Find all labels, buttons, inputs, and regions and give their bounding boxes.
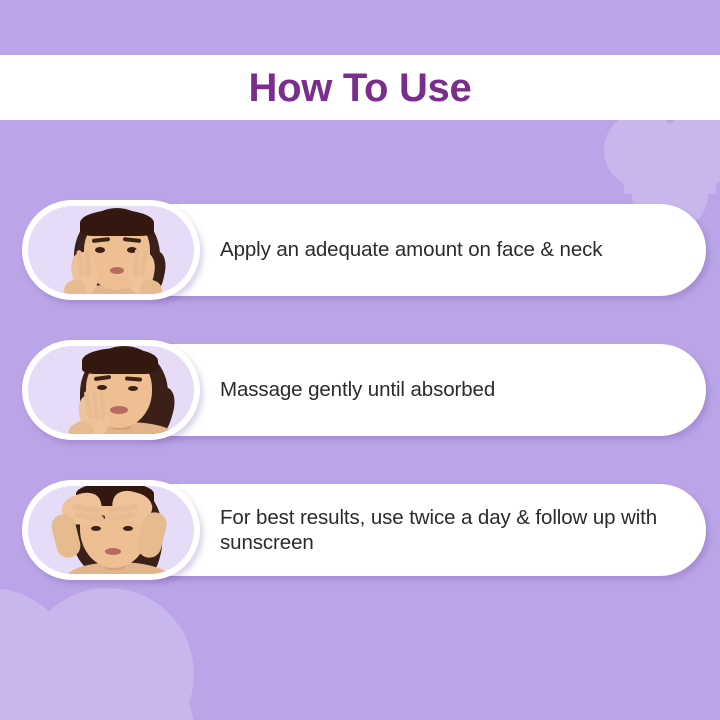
step-card: Apply an adequate amount on face & neck (22, 200, 706, 300)
step-card: For best results, use twice a day & foll… (22, 480, 706, 580)
page-title: How To Use (249, 68, 472, 108)
woman-massaging-cheek-icon (28, 346, 194, 434)
clover-lobe (604, 112, 680, 188)
step-thumbnail (22, 340, 200, 440)
clover-lobe (22, 646, 194, 720)
step-image (28, 346, 194, 434)
step-card: Massage gently until absorbed (22, 340, 706, 440)
step-thumbnail (22, 480, 200, 580)
step-image (28, 206, 194, 294)
how-to-use-infographic: How To Use Apply an adequate amount on f… (0, 0, 720, 720)
clover-lobe (0, 588, 76, 720)
clover-core (0, 628, 136, 720)
clover-lobe (660, 112, 720, 188)
clover-lobe (0, 646, 76, 720)
clover-lobe (22, 588, 194, 720)
step-image (28, 486, 194, 574)
woman-applying-cream-forehead-icon (28, 486, 194, 574)
clover-stem (624, 134, 716, 194)
header-band: How To Use (0, 55, 720, 120)
step-thumbnail (22, 200, 200, 300)
clover-decoration-bottom-left (0, 588, 194, 720)
woman-applying-cream-icon (28, 206, 194, 294)
